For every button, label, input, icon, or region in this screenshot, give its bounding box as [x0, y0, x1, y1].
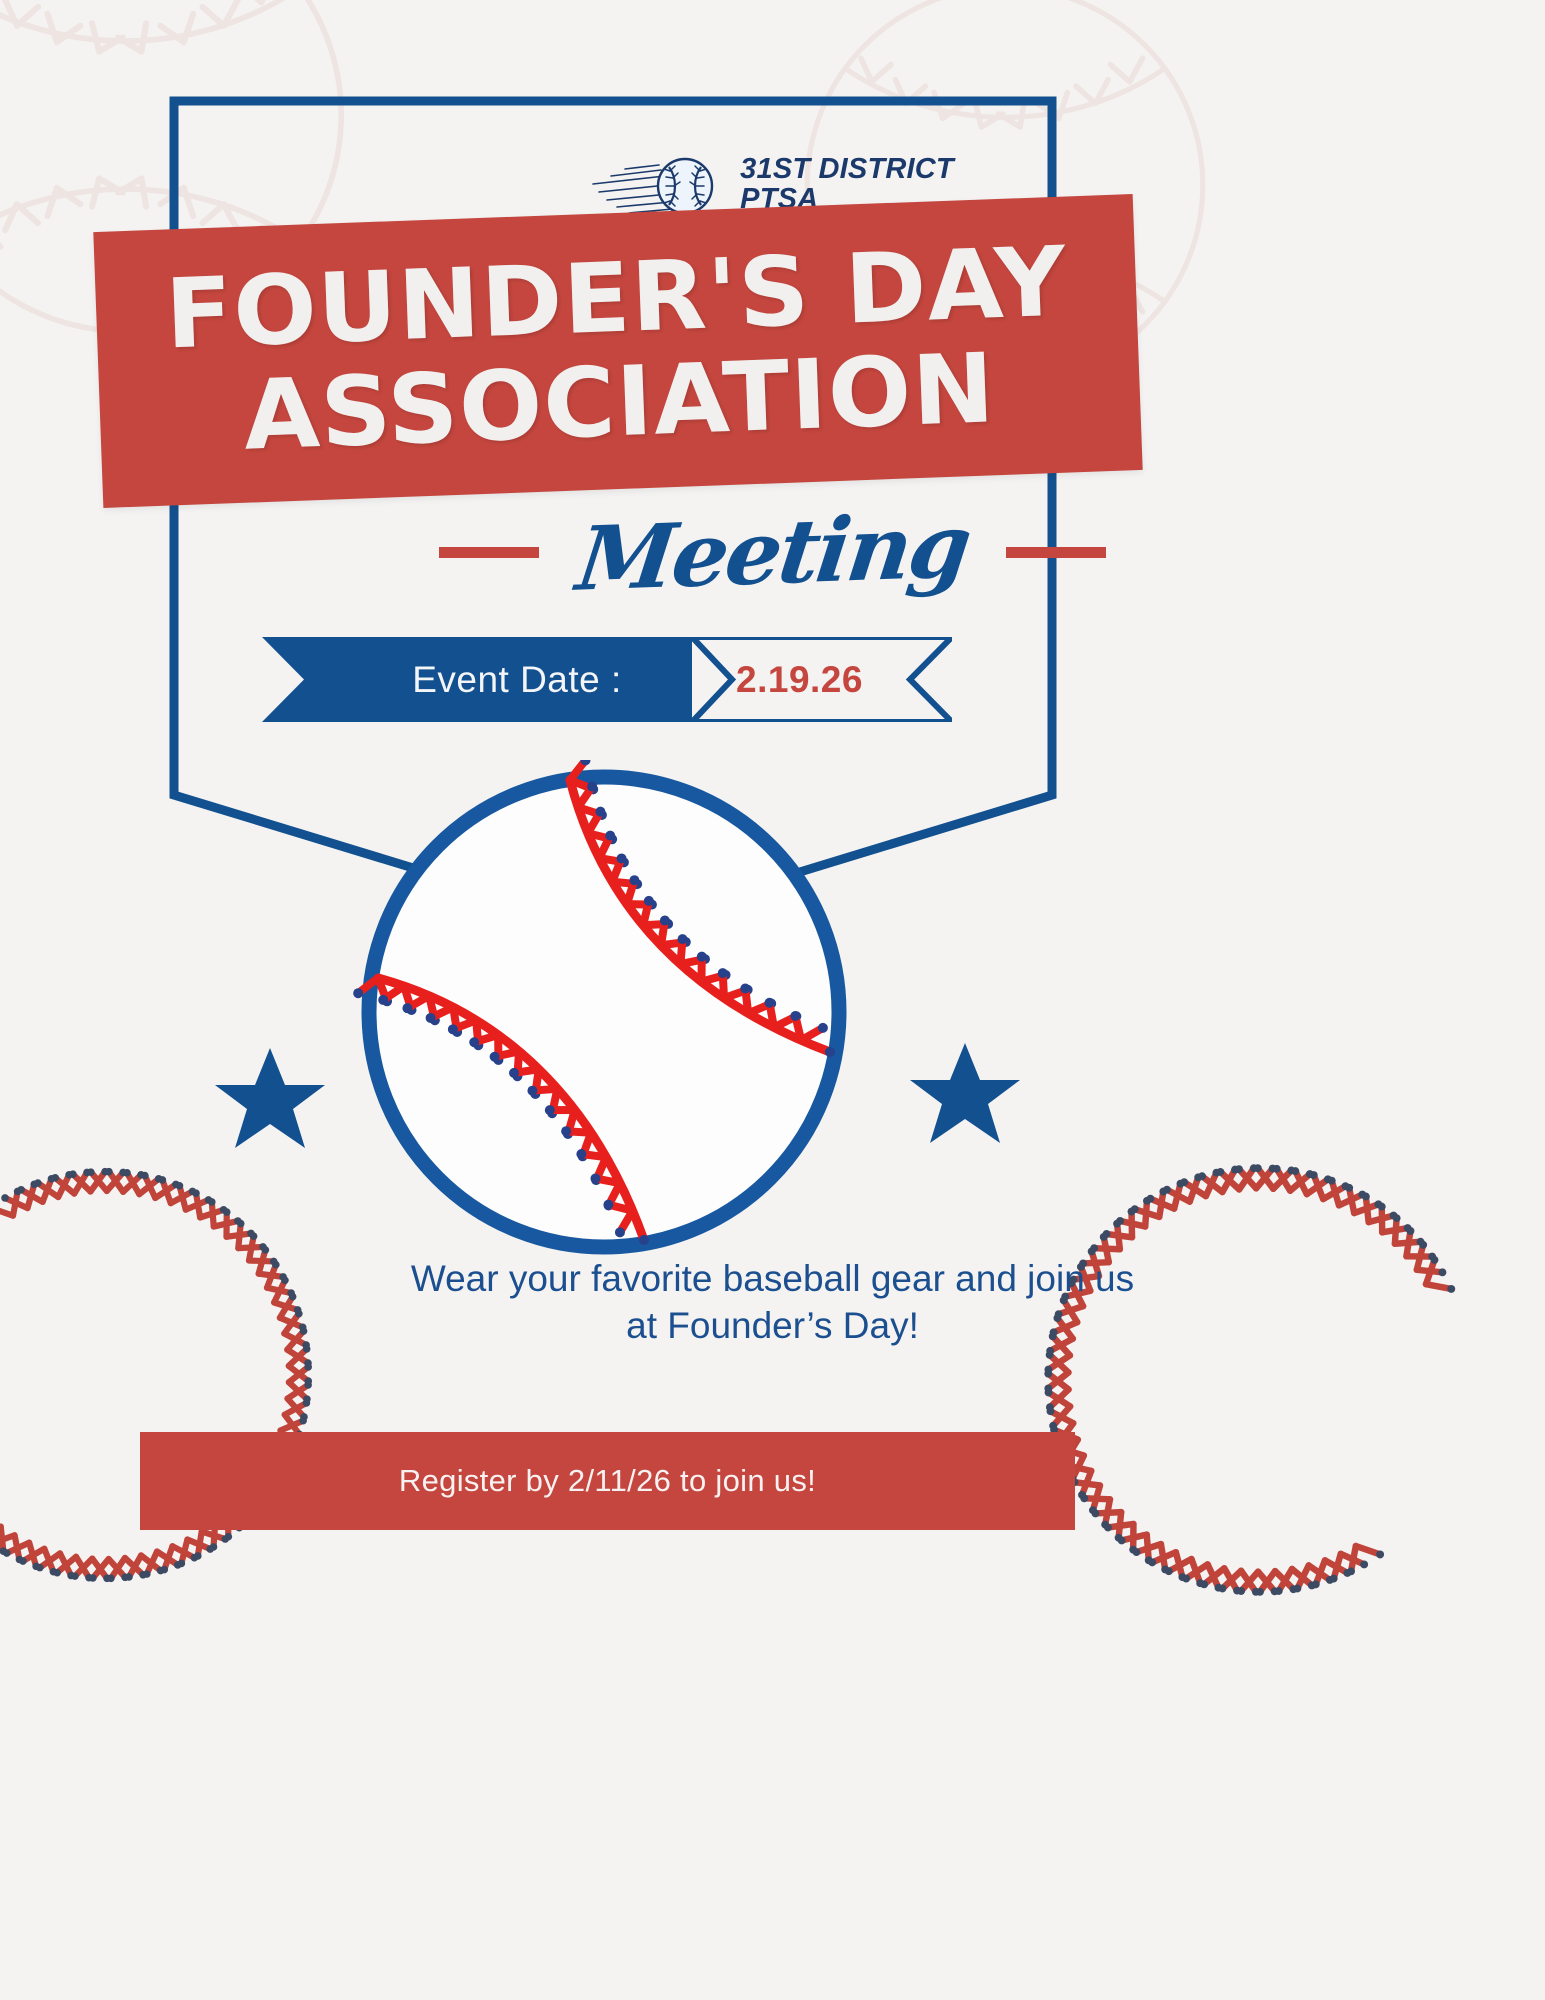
title-banner: FOUNDER'S DAY ASSOCIATION	[93, 194, 1142, 508]
baseball-icon	[352, 760, 857, 1265]
tagline: Wear your favorite baseball gear and joi…	[190, 1255, 1355, 1350]
star-icon	[215, 1045, 325, 1150]
footer-banner: Register by 2/11/26 to join us!	[140, 1432, 1075, 1530]
subtitle-row: Meeting	[0, 487, 1545, 617]
subtitle-script: Meeting	[572, 501, 973, 602]
baseball-stitch-circle-icon	[1010, 1130, 1510, 1630]
event-date-value: 2.19.26	[692, 637, 907, 722]
tagline-line-2: at Founder’s Day!	[190, 1302, 1355, 1349]
baseball-stitch-circle-icon	[0, 1135, 345, 1615]
event-date-label: Event Date :	[352, 637, 682, 722]
logo-line-1: 31ST DISTRICT	[740, 153, 954, 185]
title-line-2: ASSOCIATION	[242, 340, 997, 465]
dash-rule-left	[439, 547, 539, 558]
footer-text: Register by 2/11/26 to join us!	[399, 1463, 816, 1499]
star-icon	[910, 1040, 1020, 1145]
event-date-ribbon: Event Date : 2.19.26	[262, 637, 952, 722]
dash-rule-right	[1006, 547, 1106, 558]
tagline-line-1: Wear your favorite baseball gear and joi…	[190, 1255, 1355, 1302]
